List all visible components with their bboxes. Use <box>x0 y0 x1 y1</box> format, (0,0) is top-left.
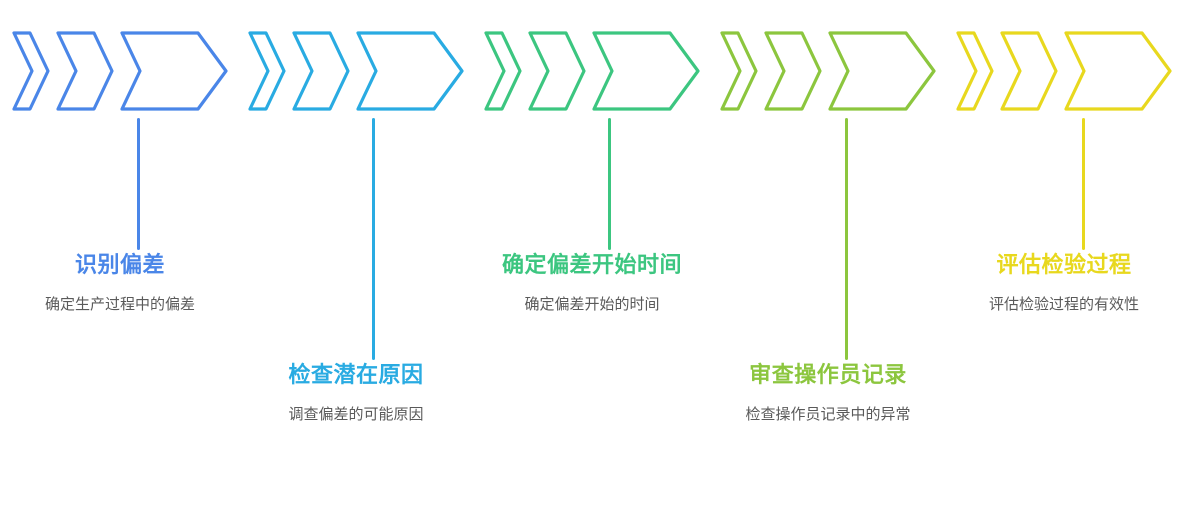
step-text-block-4: 审查操作员记录检查操作员记录中的异常 <box>708 360 948 428</box>
triple-chevron-right-icon <box>480 30 704 112</box>
triple-chevron-right-icon <box>8 30 232 112</box>
step-title-1: 识别偏差 <box>8 250 232 280</box>
step-text-block-1: 识别偏差确定生产过程中的偏差 <box>0 250 240 318</box>
triple-chevron-right-icon <box>952 30 1176 112</box>
process-step-4[interactable]: 审查操作员记录检查操作员记录中的异常 <box>708 0 948 509</box>
connector-line-5 <box>1082 118 1085 250</box>
process-step-5[interactable]: 评估检验过程评估检验过程的有效性 <box>944 0 1184 509</box>
step-description-5: 评估检验过程的有效性 <box>952 292 1176 318</box>
triple-chevron-right-icon <box>244 30 468 112</box>
connector-line-1 <box>137 118 140 250</box>
connector-line-2 <box>372 118 375 360</box>
step-title-2: 检查潜在原因 <box>244 360 468 390</box>
connector-line-4 <box>845 118 848 360</box>
triple-chevron-right-icon <box>716 30 940 112</box>
process-step-2[interactable]: 检查潜在原因调查偏差的可能原因 <box>236 0 476 509</box>
step-text-block-5: 评估检验过程评估检验过程的有效性 <box>944 250 1184 318</box>
step-title-4: 审查操作员记录 <box>716 360 940 390</box>
step-description-2: 调查偏差的可能原因 <box>244 402 468 428</box>
process-step-3[interactable]: 确定偏差开始时间确定偏差开始的时间 <box>472 0 712 509</box>
step-title-5: 评估检验过程 <box>952 250 1176 280</box>
process-flow-diagram: 识别偏差确定生产过程中的偏差检查潜在原因调查偏差的可能原因确定偏差开始时间确定偏… <box>0 0 1200 509</box>
process-step-1[interactable]: 识别偏差确定生产过程中的偏差 <box>0 0 240 509</box>
step-description-1: 确定生产过程中的偏差 <box>8 292 232 318</box>
connector-line-3 <box>608 118 611 250</box>
step-description-4: 检查操作员记录中的异常 <box>716 402 940 428</box>
step-description-3: 确定偏差开始的时间 <box>480 292 704 318</box>
step-text-block-2: 检查潜在原因调查偏差的可能原因 <box>236 360 476 428</box>
step-title-3: 确定偏差开始时间 <box>480 250 704 280</box>
step-text-block-3: 确定偏差开始时间确定偏差开始的时间 <box>472 250 712 318</box>
